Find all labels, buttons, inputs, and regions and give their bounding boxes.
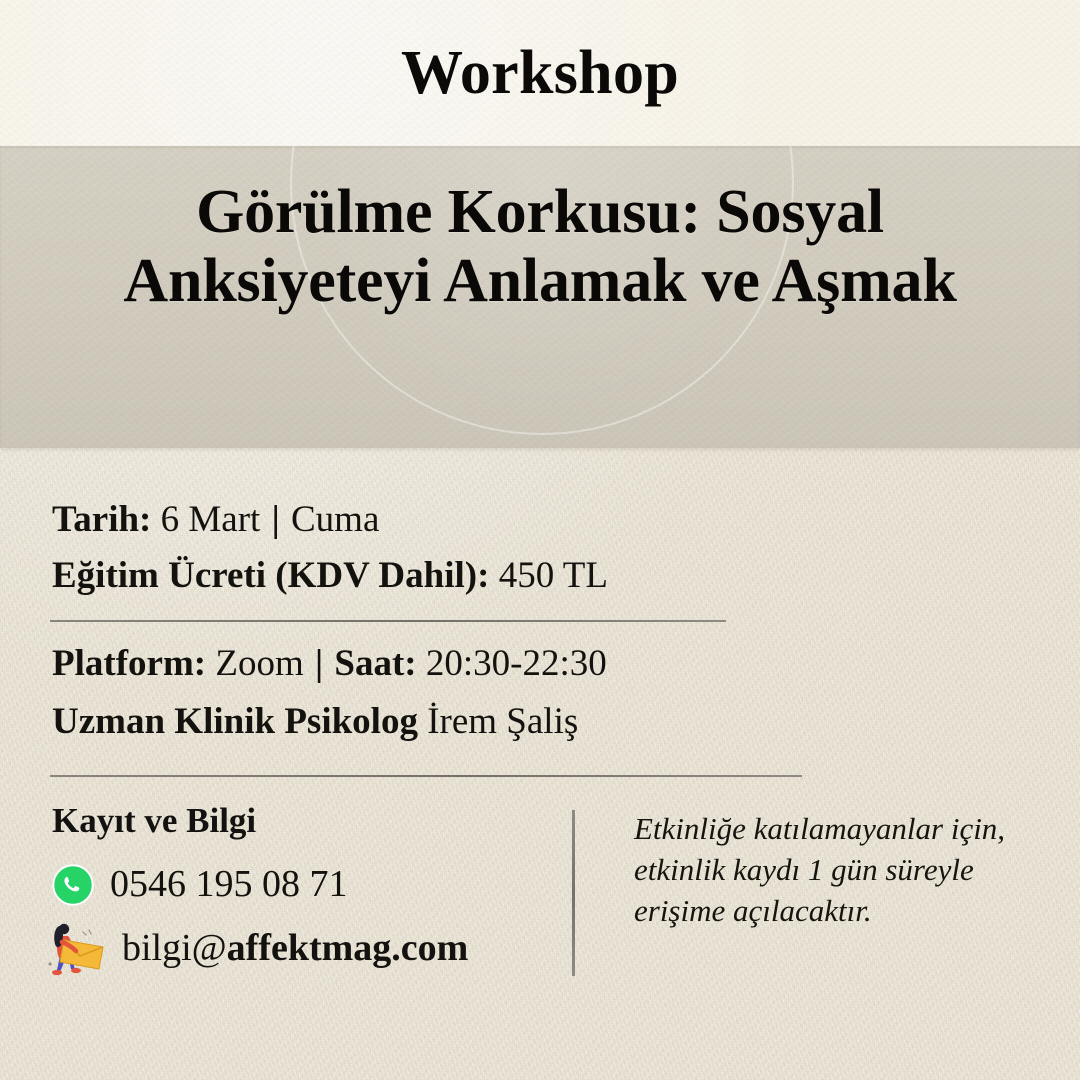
fee-value: 450 TL bbox=[499, 555, 608, 596]
page-title: Görülme Korkusu: Sosyal Anksiyeteyi Anla… bbox=[110, 146, 970, 317]
detail-row-fee: Eğitim Ücreti (KDV Dahil): 450 TL bbox=[52, 554, 608, 597]
presenter-name: İrem Şaliş bbox=[427, 701, 578, 742]
recording-note: Etkinliğe katılamayanlar için, etkinlik … bbox=[634, 808, 1026, 932]
fee-label: Eğitim Ücreti (KDV Dahil): bbox=[52, 555, 489, 596]
detail-row-platform: Platform: Zoom | Saat: 20:30-22:30 bbox=[52, 642, 607, 685]
time-label: Saat: bbox=[334, 643, 416, 684]
email-address: bilgi@affektmag.com bbox=[122, 928, 468, 970]
whatsapp-icon bbox=[52, 864, 94, 906]
note-vertical-divider bbox=[572, 810, 575, 976]
email-user: bilgi@ bbox=[122, 927, 227, 969]
date-weekday: Cuma bbox=[291, 499, 379, 540]
platform-label: Platform: bbox=[52, 643, 206, 684]
detail-row-presenter: Uzman Klinik Psikolog İrem Şaliş bbox=[52, 700, 578, 743]
details-section: Tarih: 6 Mart | Cuma Eğitim Ücreti (KDV … bbox=[0, 448, 1080, 1080]
date-separator: | bbox=[270, 499, 282, 540]
divider-rule-top bbox=[50, 620, 726, 622]
platform-value: Zoom bbox=[215, 643, 303, 684]
header-strip: Workshop bbox=[0, 0, 1080, 146]
date-value: 6 Mart bbox=[161, 499, 261, 540]
envelope-carrier-illustration bbox=[44, 920, 106, 978]
presenter-title: Uzman Klinik Psikolog bbox=[52, 701, 418, 742]
divider-rule-bottom bbox=[50, 775, 802, 777]
title-band: Görülme Korkusu: Sosyal Anksiyeteyi Anla… bbox=[0, 146, 1080, 448]
date-label: Tarih: bbox=[52, 499, 151, 540]
contact-row-email[interactable]: bilgi@affektmag.com bbox=[52, 920, 552, 978]
phone-number: 0546 195 08 71 bbox=[110, 864, 348, 906]
time-value: 20:30-22:30 bbox=[426, 643, 607, 684]
registration-heading: Kayıt ve Bilgi bbox=[52, 803, 552, 838]
poster-canvas: Workshop Görülme Korkusu: Sosyal Anksiye… bbox=[0, 0, 1080, 1080]
detail-row-date: Tarih: 6 Mart | Cuma bbox=[52, 498, 379, 541]
email-domain: affektmag.com bbox=[227, 927, 469, 969]
workshop-eyebrow: Workshop bbox=[401, 42, 679, 104]
contact-block: Kayıt ve Bilgi 0546 195 08 71 bbox=[52, 803, 552, 992]
contact-row-phone[interactable]: 0546 195 08 71 bbox=[52, 864, 552, 906]
platform-separator: | bbox=[313, 643, 325, 684]
